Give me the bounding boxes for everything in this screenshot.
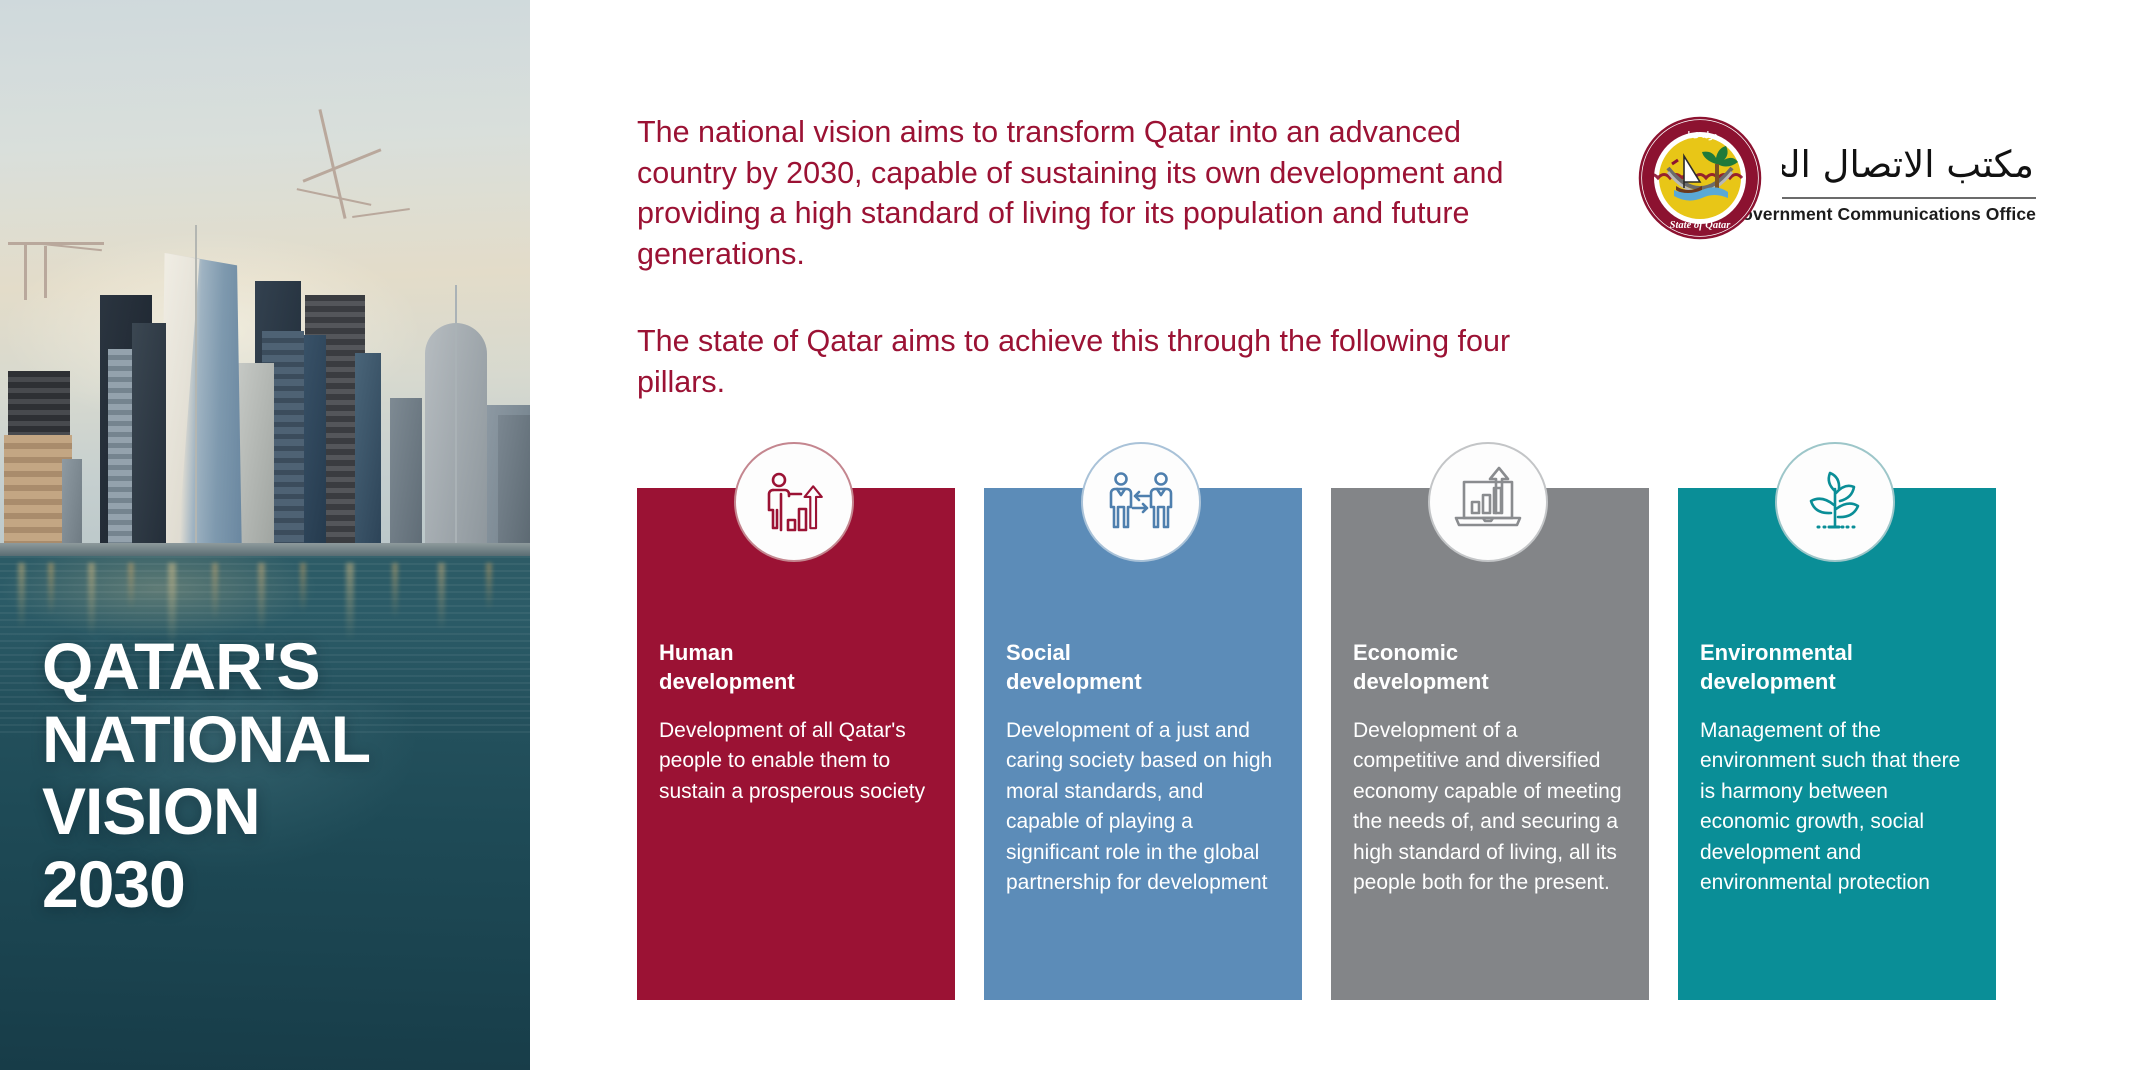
light-reflection xyxy=(48,563,54,615)
light-reflection xyxy=(18,563,25,629)
pillar-title-line-1: Human xyxy=(659,638,934,667)
title-line-4: 2030 xyxy=(42,848,502,921)
light-reflection xyxy=(438,563,445,631)
infographic-page: QATAR'S NATIONAL VISION 2030 The nationa… xyxy=(0,0,2134,1070)
title-line-2: NATIONAL xyxy=(42,703,502,776)
two-people-exchange-arrows-icon xyxy=(1104,465,1178,539)
pillar-title-environmental: Environmental development xyxy=(1700,638,1975,697)
pillar-title-line-2: development xyxy=(1006,667,1281,696)
logo-english-name: Government Communications Office xyxy=(1728,204,2036,225)
pillar-title-social: Social development xyxy=(1006,638,1281,697)
government-communications-office-logo: دولة قطر State of Qatar مكتب الاتصال الح… xyxy=(1638,116,2036,240)
pillar-card-environmental[interactable]: Environmental development Management of … xyxy=(1678,488,1996,1000)
light-reflection xyxy=(300,563,306,613)
plant-sapling-growth-icon xyxy=(1798,465,1872,539)
building xyxy=(390,398,422,563)
pillar-body-environmental: Management of the environment such that … xyxy=(1700,716,1972,899)
logo-arabic-name: مكتب الاتصال الحكومي xyxy=(1782,131,2036,193)
state-of-qatar-emblem-icon: دولة قطر State of Qatar xyxy=(1638,116,1762,240)
pillar-title-human: Human development xyxy=(659,638,934,697)
light-reflection xyxy=(392,563,398,619)
pillar-title-economic: Economic development xyxy=(1353,638,1628,697)
pillar-title-line-1: Social xyxy=(1006,638,1281,667)
emblem-caption: State of Qatar xyxy=(1670,220,1732,231)
intro-text-block: The national vision aims to transform Qa… xyxy=(637,112,1517,402)
pillars-row: Human development Development of all Qat… xyxy=(637,488,2052,1000)
building xyxy=(132,323,166,563)
pillar-title-line-2: development xyxy=(659,667,934,696)
intro-paragraph-2: The state of Qatar aims to achieve this … xyxy=(637,321,1517,402)
building xyxy=(355,353,381,563)
pillar-card-human[interactable]: Human development Development of all Qat… xyxy=(637,488,955,1000)
pillar-icon-circle-human xyxy=(734,442,854,562)
pillar-icon-circle-environmental xyxy=(1775,442,1895,562)
svg-text:دولة قطر: دولة قطر xyxy=(1681,130,1717,141)
pillar-body-social: Development of a just and caring society… xyxy=(1006,716,1278,899)
light-reflection xyxy=(88,563,95,637)
pillar-body-human: Development of all Qatar's people to ena… xyxy=(659,716,931,807)
title-line-1: QATAR'S xyxy=(42,630,502,703)
pillar-card-economic[interactable]: Economic development Development of a co… xyxy=(1331,488,1649,1000)
logo-divider xyxy=(1782,197,2036,199)
crane-icon xyxy=(24,242,27,300)
building-spire xyxy=(455,285,457,563)
logo-wordmark: مكتب الاتصال الحكومي Government Communic… xyxy=(1782,131,2036,225)
pillar-card-social[interactable]: Social development Development of a just… xyxy=(984,488,1302,1000)
building-spire xyxy=(195,225,197,563)
pillar-body-economic: Development of a competitive and diversi… xyxy=(1353,716,1625,899)
intro-paragraph-1: The national vision aims to transform Qa… xyxy=(637,112,1517,275)
pillar-title-line-1: Environmental xyxy=(1700,638,1975,667)
pillar-icon-circle-social xyxy=(1081,442,1201,562)
title-line-3: VISION xyxy=(42,775,502,848)
light-reflection xyxy=(128,563,134,609)
pillar-title-line-1: Economic xyxy=(1353,638,1628,667)
building xyxy=(498,415,530,563)
light-reflection xyxy=(212,563,218,621)
pillar-title-line-2: development xyxy=(1700,667,1975,696)
pillar-title-line-2: development xyxy=(1353,667,1628,696)
person-bar-chart-growth-icon xyxy=(757,465,831,539)
hero-panel: QATAR'S NATIONAL VISION 2030 xyxy=(0,0,530,1070)
arabic-text: مكتب الاتصال الحكومي xyxy=(1782,143,2034,186)
crane-icon xyxy=(44,246,47,298)
light-reflection xyxy=(258,563,265,633)
light-reflection xyxy=(486,563,492,611)
page-title: QATAR'S NATIONAL VISION 2030 xyxy=(42,630,502,920)
laptop-bar-chart-arrow-icon xyxy=(1450,464,1526,540)
pillar-icon-circle-economic xyxy=(1428,442,1548,562)
